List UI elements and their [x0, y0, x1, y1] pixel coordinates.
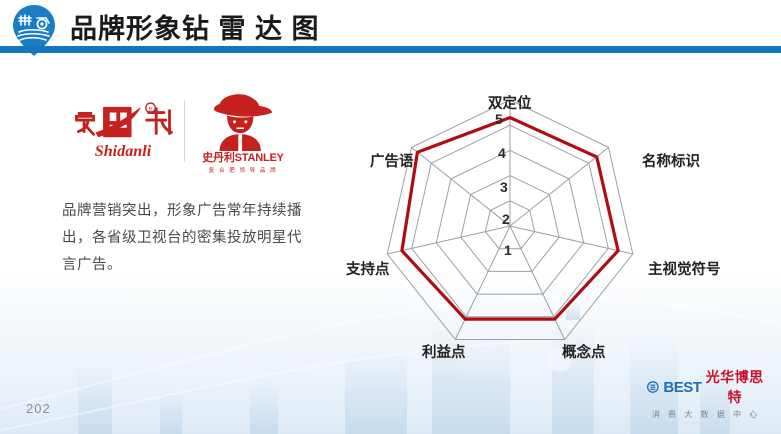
radar-chart-svg: [330, 78, 750, 378]
radar-tick-1: 1: [504, 242, 512, 258]
shidanli-wordmark-icon: R Shidanli: [67, 101, 179, 162]
stanley-tagline: 复 合 肥 领 导 品 牌: [209, 166, 277, 174]
radar-label-0: 双定位: [488, 92, 532, 113]
radar-tick-5: 5: [495, 111, 503, 127]
radar-label-1: 名称标识: [642, 150, 700, 171]
slide-header: 品牌形象钻 雷 达 图: [0, 0, 781, 55]
radar-tick-4: 4: [498, 145, 506, 161]
radar-axis-lines: [387, 100, 633, 340]
radar-label-6: 广告语: [370, 150, 414, 171]
cowboy-portrait-icon: [191, 89, 295, 151]
radar-label-5: 支持点: [346, 258, 390, 279]
brand-logo-panel: R Shidanli: [62, 84, 302, 178]
page-title: 品牌形象钻 雷 达 图: [70, 7, 320, 46]
footer-logo-mark: BEST: [663, 379, 701, 396]
radar-label-4: 利益点: [422, 341, 466, 362]
description-text: 品牌营销突出，形象广告常年持续播出，各省级卫视台的密集投放明星代言广告。: [62, 198, 314, 279]
stanley-logo: 史丹利STANLEY 复 合 肥 领 导 品 牌: [185, 84, 301, 178]
radar-label-2: 主视觉符号: [648, 258, 721, 279]
shidanli-logo: R Shidanli: [62, 84, 184, 178]
radar-chart: 双定位 名称标识 主视觉符号 概念点 利益点 支持点 广告语 5 4 3 2 1: [330, 78, 750, 378]
footer-logo: BEST 光华博思特 消 费 大 数 据 中 心: [647, 367, 765, 420]
page-number: 202: [26, 401, 51, 416]
radar-tick-3: 3: [500, 179, 508, 195]
slide: 品牌形象钻 雷 达 图: [0, 0, 781, 434]
footer-logo-sub: 消 费 大 数 据 中 心: [647, 409, 765, 420]
header-divider: [0, 46, 781, 53]
stanley-wordmark: 史丹利STANLEY: [202, 149, 284, 165]
best-emblem-icon: [647, 380, 660, 394]
radar-tick-2: 2: [502, 211, 510, 227]
svg-text:R: R: [149, 106, 153, 112]
radar-label-3: 概念点: [562, 341, 606, 362]
shidanli-pinyin: Shidanli: [95, 143, 152, 160]
footer-logo-name: 光华博思特: [704, 367, 765, 407]
